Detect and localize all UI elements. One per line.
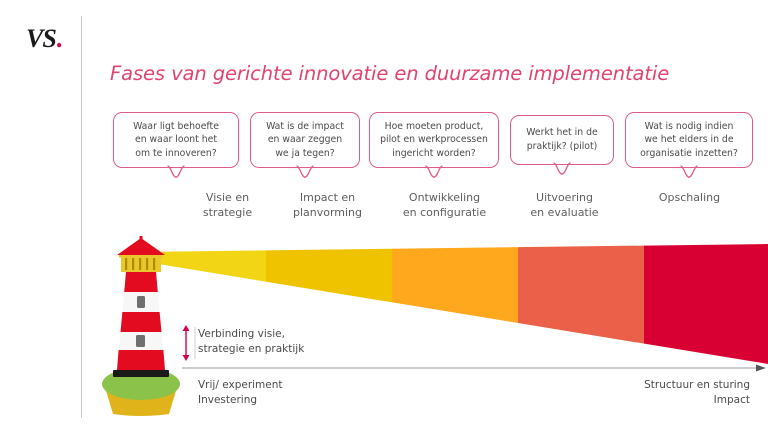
connection-label-line2: strategie en praktijk [198,342,304,357]
question-bubble-visie-en-strategie: Waar ligt behoefteen waar loont hetom te… [113,112,239,168]
question-bubble-impact-en-planvorming: Wat is de impacten waar zeggenwe ja tege… [250,112,360,168]
connection-label: Verbinding visie, strategie en praktijk [198,327,304,356]
question-bubble-text-4: Wat is nodig indienwe het elders in deor… [640,120,738,161]
wedge-band-uitvoering-en-evaluatie [518,244,644,364]
page-title: Fases van gerichte innovatie en duurzame… [110,62,710,85]
question-bubble-opschaling: Wat is nodig indienwe het elders in deor… [625,112,753,168]
question-bubble-uitvoering-en-evaluatie: Werkt het in depraktijk? (pilot) [510,115,614,165]
bubble-tail-icon-3 [553,163,571,175]
bubble-tail-icon-4 [680,166,698,178]
connection-arrow-icon [178,325,200,361]
lighthouse-stripe-icon-1 [124,272,158,292]
question-bubble-text-0: Waar ligt behoefteen waar loont hetom te… [133,120,219,161]
question-bubble-text-1: Wat is de impacten waar zeggenwe ja tege… [266,120,344,161]
bubble-tail-icon-1 [296,166,314,178]
lighthouse-platform-icon [113,370,169,377]
question-bubble-text-2: Hoe moeten product,pilot en werkprocesse… [380,120,488,161]
bubble-tail-icon-0 [167,166,185,178]
axis-label-left-line2: Investering [198,393,283,408]
question-bubble-ontwikkeling-en-configuratie: Hoe moeten product,pilot en werkprocesse… [369,112,499,168]
lighthouse-stripe-icon-3 [117,350,165,370]
question-bubble-text-3: Werkt het in depraktijk? (pilot) [526,126,597,153]
lighthouse-stripe-icon-2 [121,312,162,332]
connection-label-line1: Verbinding visie, [198,327,304,342]
slide-canvas: VS. Fases van gerichte innovatie en duur… [0,0,768,432]
axis-label-right-line1: Structuur en sturing [644,378,750,393]
progression-axis-arrow-icon [182,363,766,373]
vertical-divider [81,16,82,418]
phase-label-opschaling: Opschaling [612,190,767,205]
phase-label-line2-3: en evaluatie [487,205,642,220]
axis-label-right-line2: Impact [644,393,750,408]
wedge-band-opschaling [644,244,768,364]
bubble-tail-icon-2 [425,166,443,178]
axis-label-left: Vrij/ experiment Investering [198,378,283,408]
logo-mark: VS [26,24,56,53]
phase-label-line1-4: Opschaling [612,190,767,205]
lighthouse-window-icon-1 [137,296,145,308]
wedge-band-ontwikkeling-en-configuratie [392,244,518,364]
logo-dot: . [56,24,62,53]
axis-label-right: Structuur en sturing Impact [644,378,750,408]
lighthouse-finial-icon [140,236,143,240]
lighthouse-roof-icon [117,238,165,255]
axis-label-left-line1: Vrij/ experiment [198,378,283,393]
brand-logo: VS. [26,24,82,58]
lighthouse-window-icon-2 [136,335,145,347]
